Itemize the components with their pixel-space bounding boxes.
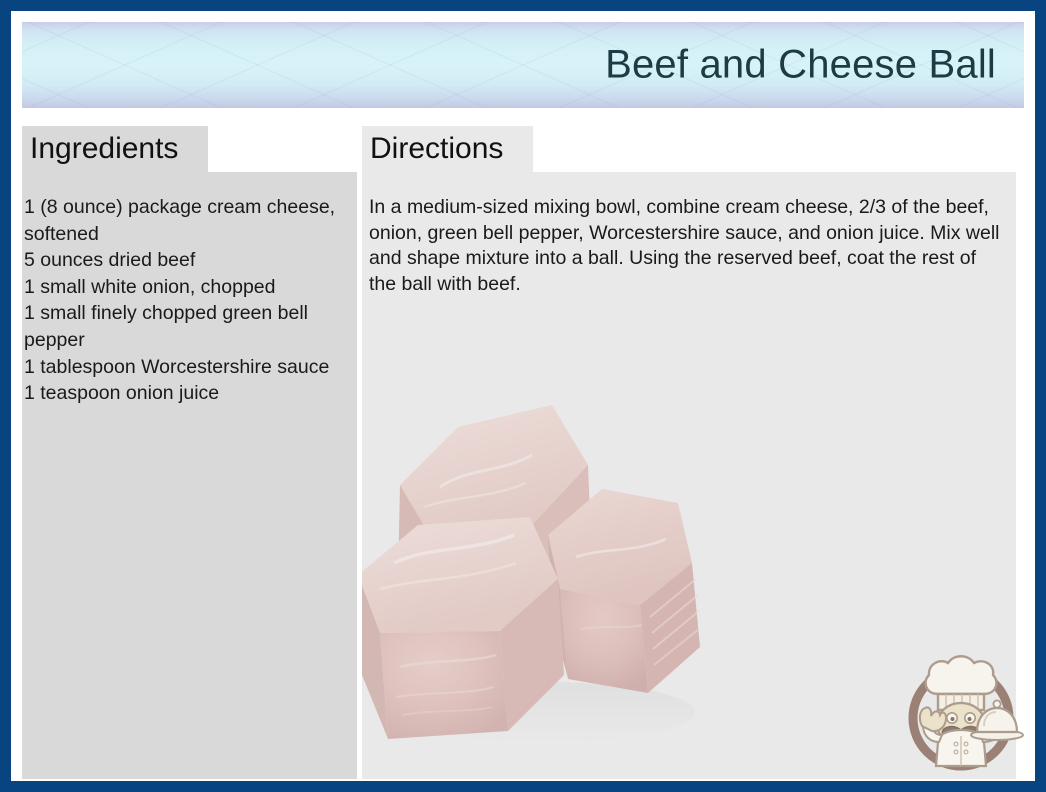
directions-body-text: In a medium-sized mixing bowl, combine c…: [369, 195, 1007, 297]
slide-border-bottom: [0, 781, 1046, 792]
recipe-slide: Beef and Cheese Ball Ingredients Directi…: [0, 0, 1046, 792]
ingredient-item: 1 (8 ounce) package cream cheese, soften…: [24, 194, 354, 247]
header-banner: Beef and Cheese Ball: [22, 22, 1024, 108]
slide-border-top: [0, 0, 1046, 11]
page-title: Beef and Cheese Ball: [605, 43, 996, 88]
ingredient-item: 1 teaspoon onion juice: [24, 380, 354, 407]
ingredient-item: 1 small finely chopped green bell pepper: [24, 300, 354, 353]
ingredient-item: 1 small white onion, chopped: [24, 274, 354, 301]
ingredient-item: 5 ounces dried beef: [24, 247, 354, 274]
directions-heading-tab: Directions: [362, 126, 533, 172]
ingredients-heading-tab: Ingredients: [22, 126, 208, 172]
directions-heading-label: Directions: [370, 132, 503, 166]
slide-border-right: [1035, 0, 1046, 792]
ingredient-item: 1 tablespoon Worcestershire sauce: [24, 354, 354, 381]
ingredients-heading-label: Ingredients: [30, 132, 178, 166]
slide-border-left: [0, 0, 11, 792]
ingredients-panel: 1 (8 ounce) package cream cheese, soften…: [22, 172, 357, 779]
raw-beef-cubes-photo: [362, 367, 740, 767]
ingredients-list: 1 (8 ounce) package cream cheese, soften…: [24, 194, 354, 407]
chef-with-serving-dome-logo: [898, 642, 1024, 774]
